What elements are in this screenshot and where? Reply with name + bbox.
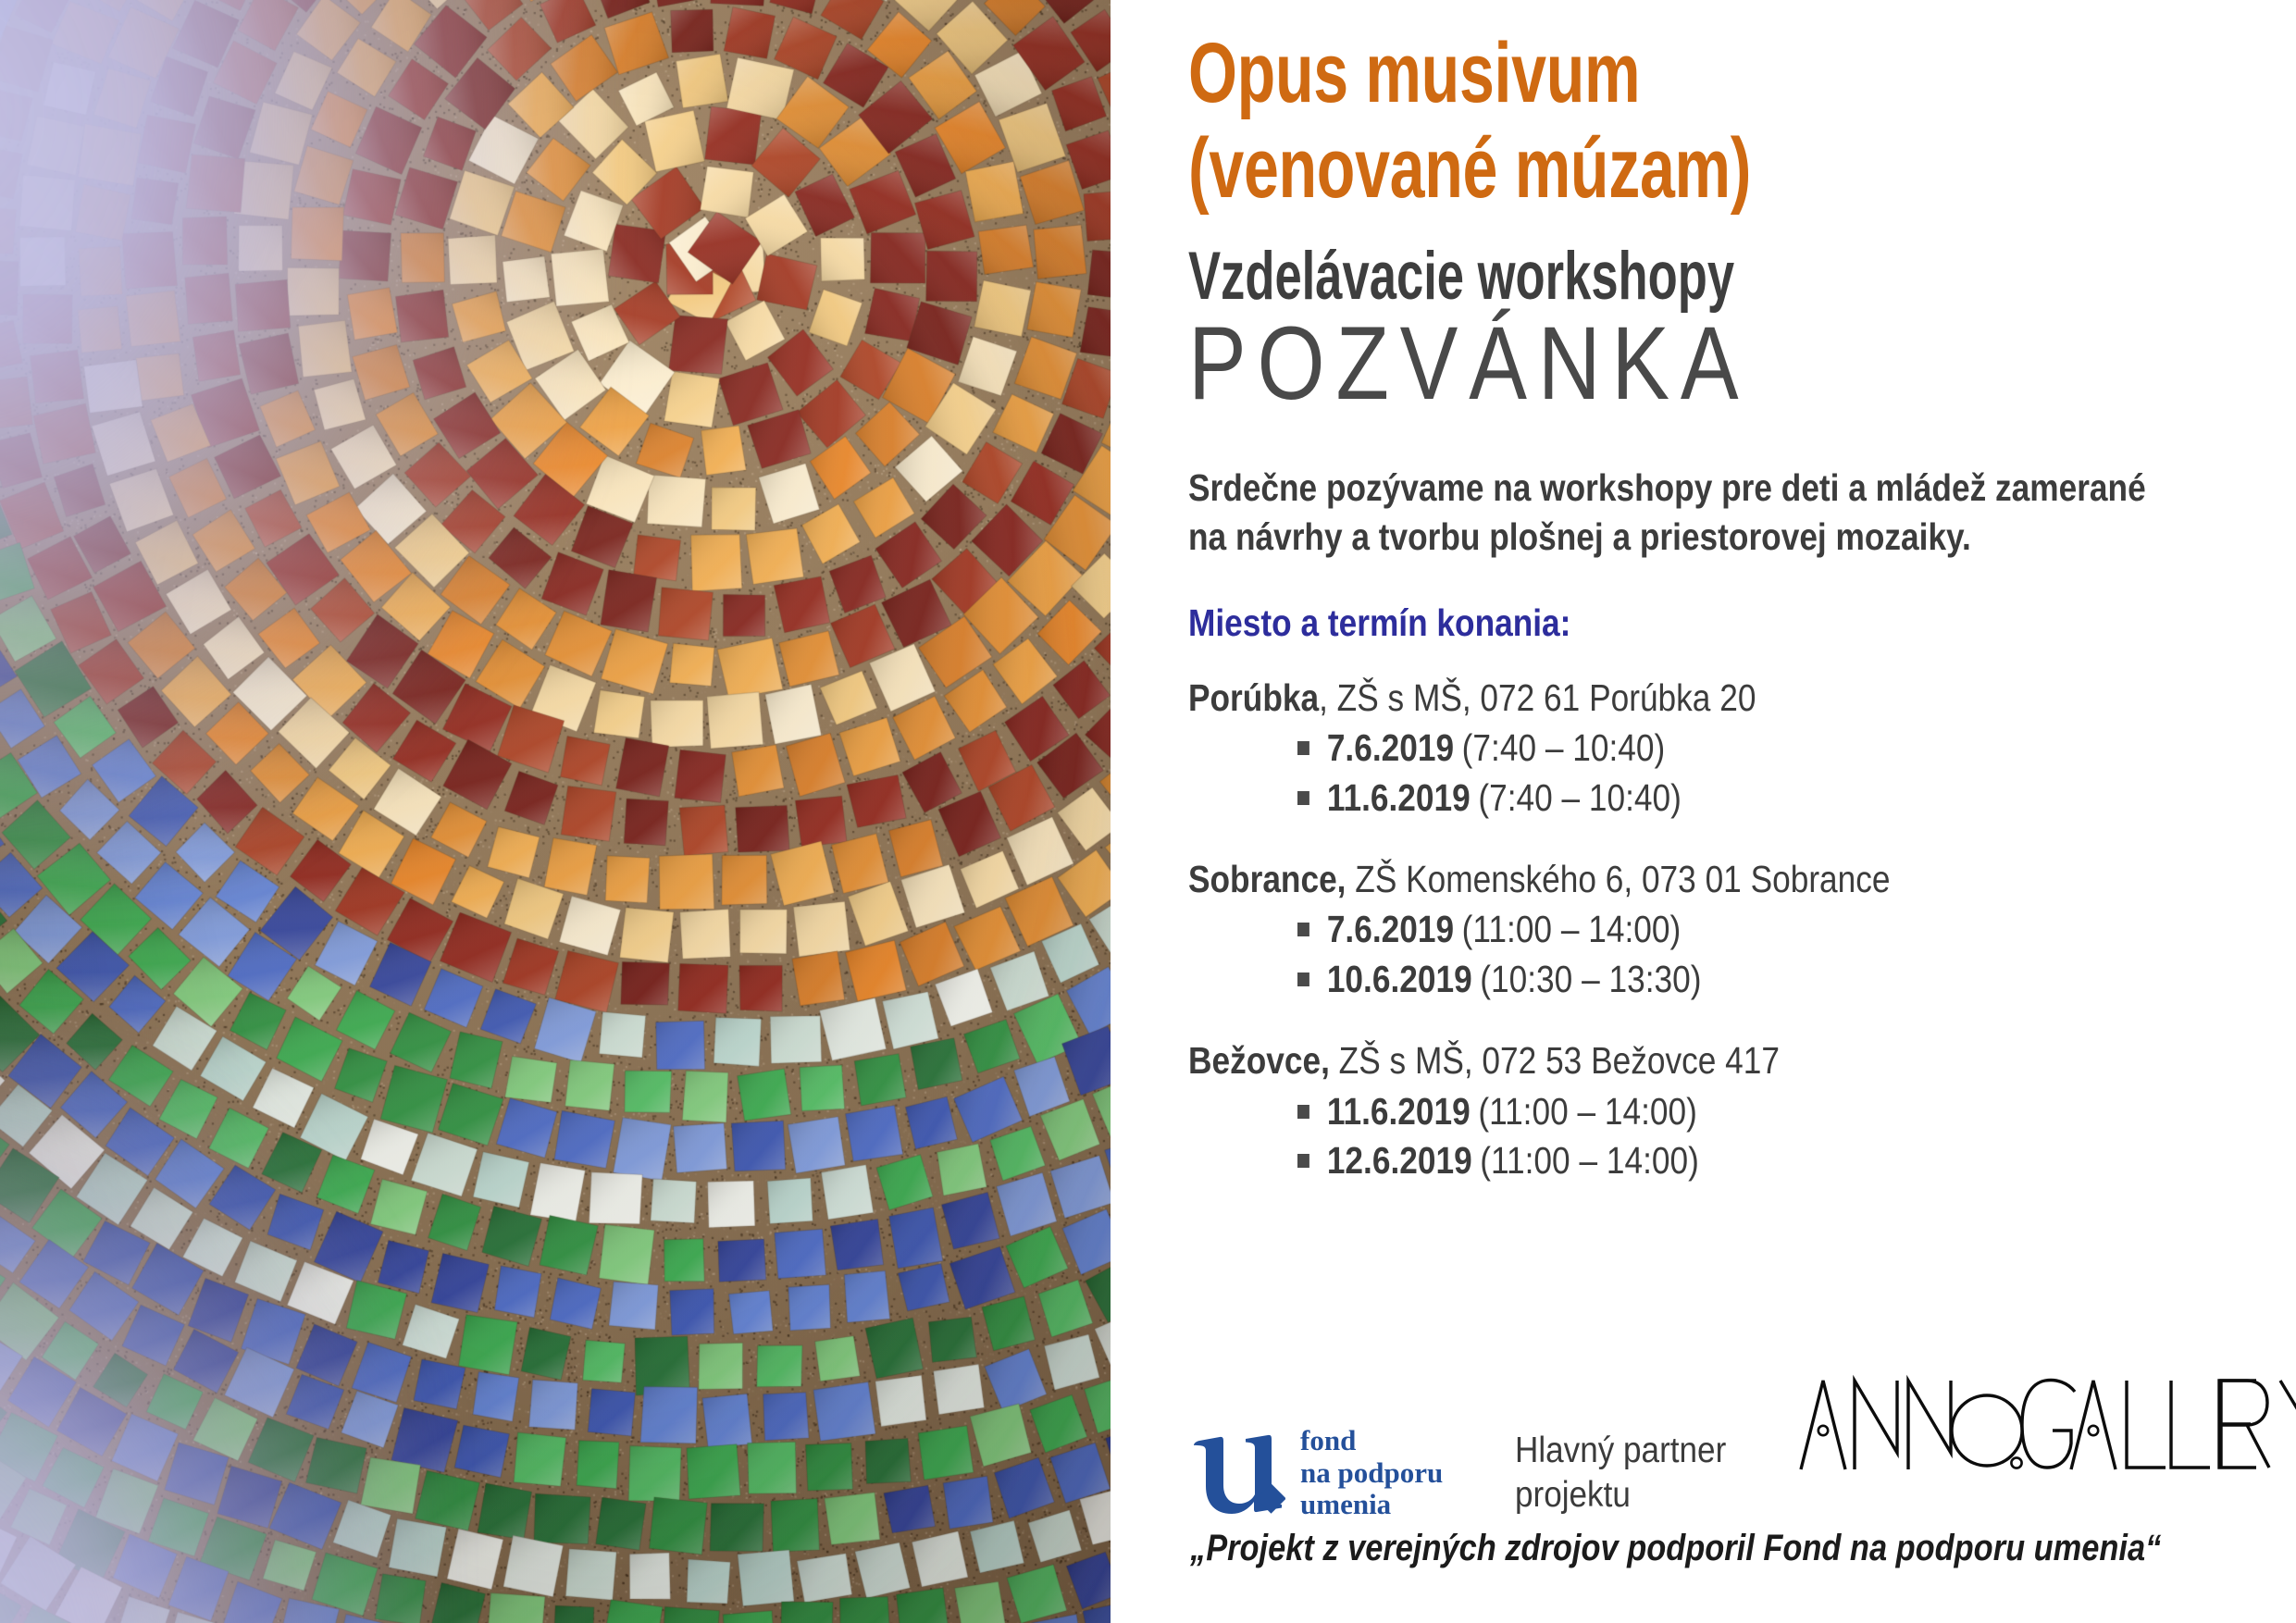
fpu-wordmark: fond na podporu umenia <box>1300 1425 1443 1521</box>
main-partner-label: Hlavný partner projektu <box>1515 1429 1726 1517</box>
intro-line-2: na návrhy a tvorbu plošnej a priestorove… <box>1188 513 2146 562</box>
venue-date: 12.6.2019 <box>1327 1136 1472 1185</box>
section-label-place-and-date: Miesto a termín konania: <box>1188 601 2146 645</box>
venue-date-item: 7.6.2019(11:00 – 14:00) <box>1297 905 2161 954</box>
title-line-2: (venované múzam) <box>1188 127 2012 211</box>
venue-date: 11.6.2019 <box>1327 1087 1471 1136</box>
venue-address: ZŠ s MŠ, 072 53 Bežovce 417 <box>1330 1039 1780 1082</box>
square-bullet-icon <box>1297 973 1309 986</box>
venue-time: (7:40 – 10:40) <box>1478 774 1682 823</box>
fpu-line-1: fond <box>1300 1425 1443 1457</box>
venue-time: (10:30 – 13:30) <box>1480 955 1701 1004</box>
footer: fond na podporu umenia Hlavný partner pr… <box>1188 1345 2296 1623</box>
venue-date-list: 7.6.2019(7:40 – 10:40)11.6.2019(7:40 – 1… <box>1188 724 2296 823</box>
venue-block: Bežovce, ZŠ s MŠ, 072 53 Bežovce 41711.6… <box>1188 1039 2296 1185</box>
venue-time: (11:00 – 14:00) <box>1480 1136 1699 1185</box>
venue-address: , ZŠ s MŠ, 072 61 Porúbka 20 <box>1319 676 1756 719</box>
fpu-logo: fond na podporu umenia <box>1188 1425 1443 1521</box>
venue-date-item: 12.6.2019(11:00 – 14:00) <box>1297 1136 2161 1185</box>
funding-disclaimer: „Projekt z verejných zdrojov podporil Fo… <box>1190 1528 2161 1569</box>
page-title: Opus musivum (venované múzam) <box>1188 31 2012 211</box>
venue-date-item: 11.6.2019(7:40 – 10:40) <box>1297 774 2161 823</box>
venue-date-item: 10.6.2019(10:30 – 13:30) <box>1297 955 2161 1004</box>
venue-date: 7.6.2019 <box>1327 724 1454 773</box>
square-bullet-icon <box>1297 923 1309 936</box>
venue-date-list: 11.6.2019(11:00 – 14:00)12.6.2019(11:00 … <box>1188 1087 2296 1186</box>
venue-heading: Sobrance, ZŠ Komenského 6, 073 01 Sobran… <box>1188 858 2146 902</box>
venue-date: 10.6.2019 <box>1327 955 1472 1004</box>
venue-heading: Porúbka, ZŠ s MŠ, 072 61 Porúbka 20 <box>1188 676 2146 721</box>
venue-date-list: 7.6.2019(11:00 – 14:00)10.6.2019(10:30 –… <box>1188 905 2296 1004</box>
venue-name: Porúbka <box>1188 676 1319 719</box>
venue-date-item: 7.6.2019(7:40 – 10:40) <box>1297 724 2161 773</box>
venue-address: ZŠ Komenského 6, 073 01 Sobrance <box>1346 858 1890 900</box>
mosaic-photo-canvas <box>0 0 1111 1623</box>
venue-time: (11:00 – 14:00) <box>1462 905 1682 954</box>
venue-heading: Bežovce, ZŠ s MŠ, 072 53 Bežovce 417 <box>1188 1039 2146 1084</box>
headline-pozvanka: POZVÁNKA <box>1188 312 2124 415</box>
fpu-line-2: na podporu <box>1300 1457 1443 1490</box>
fpu-u-mark-icon <box>1188 1429 1285 1518</box>
intro-line-1: Srdečne pozývame na workshopy pre deti a… <box>1188 464 2146 513</box>
partner-line-2: projektu <box>1515 1473 1726 1518</box>
venue-date: 7.6.2019 <box>1327 905 1454 954</box>
venue-date-item: 11.6.2019(11:00 – 14:00) <box>1297 1087 2161 1136</box>
square-bullet-icon <box>1297 1105 1309 1119</box>
partner-line-1: Hlavný partner <box>1515 1429 1726 1473</box>
square-bullet-icon <box>1297 741 1309 755</box>
venue-block: Porúbka, ZŠ s MŠ, 072 61 Porúbka 207.6.2… <box>1188 676 2296 823</box>
venue-name: Bežovce, <box>1188 1039 1330 1082</box>
venue-block: Sobrance, ZŠ Komenského 6, 073 01 Sobran… <box>1188 858 2296 1004</box>
square-bullet-icon <box>1297 791 1309 805</box>
title-line-1: Opus musivum <box>1188 31 2012 116</box>
invitation-poster: Opus musivum (venované múzam) Vzdelávaci… <box>0 0 2296 1623</box>
content-column: Opus musivum (venované múzam) Vzdelávaci… <box>1111 0 2296 1623</box>
venue-list: Porúbka, ZŠ s MŠ, 072 61 Porúbka 207.6.2… <box>1188 676 2296 1185</box>
fpu-line-3: umenia <box>1300 1489 1443 1521</box>
venue-time: (11:00 – 14:00) <box>1478 1087 1697 1136</box>
venue-time: (7:40 – 10:40) <box>1462 724 1666 773</box>
intro-paragraph: Srdečne pozývame na workshopy pre deti a… <box>1188 464 2146 563</box>
subtitle: Vzdelávacie workshopy <box>1188 242 1990 310</box>
venue-date: 11.6.2019 <box>1327 774 1471 823</box>
square-bullet-icon <box>1297 1154 1309 1168</box>
mosaic-artwork <box>0 0 1111 1623</box>
venue-name: Sobrance, <box>1188 858 1346 900</box>
